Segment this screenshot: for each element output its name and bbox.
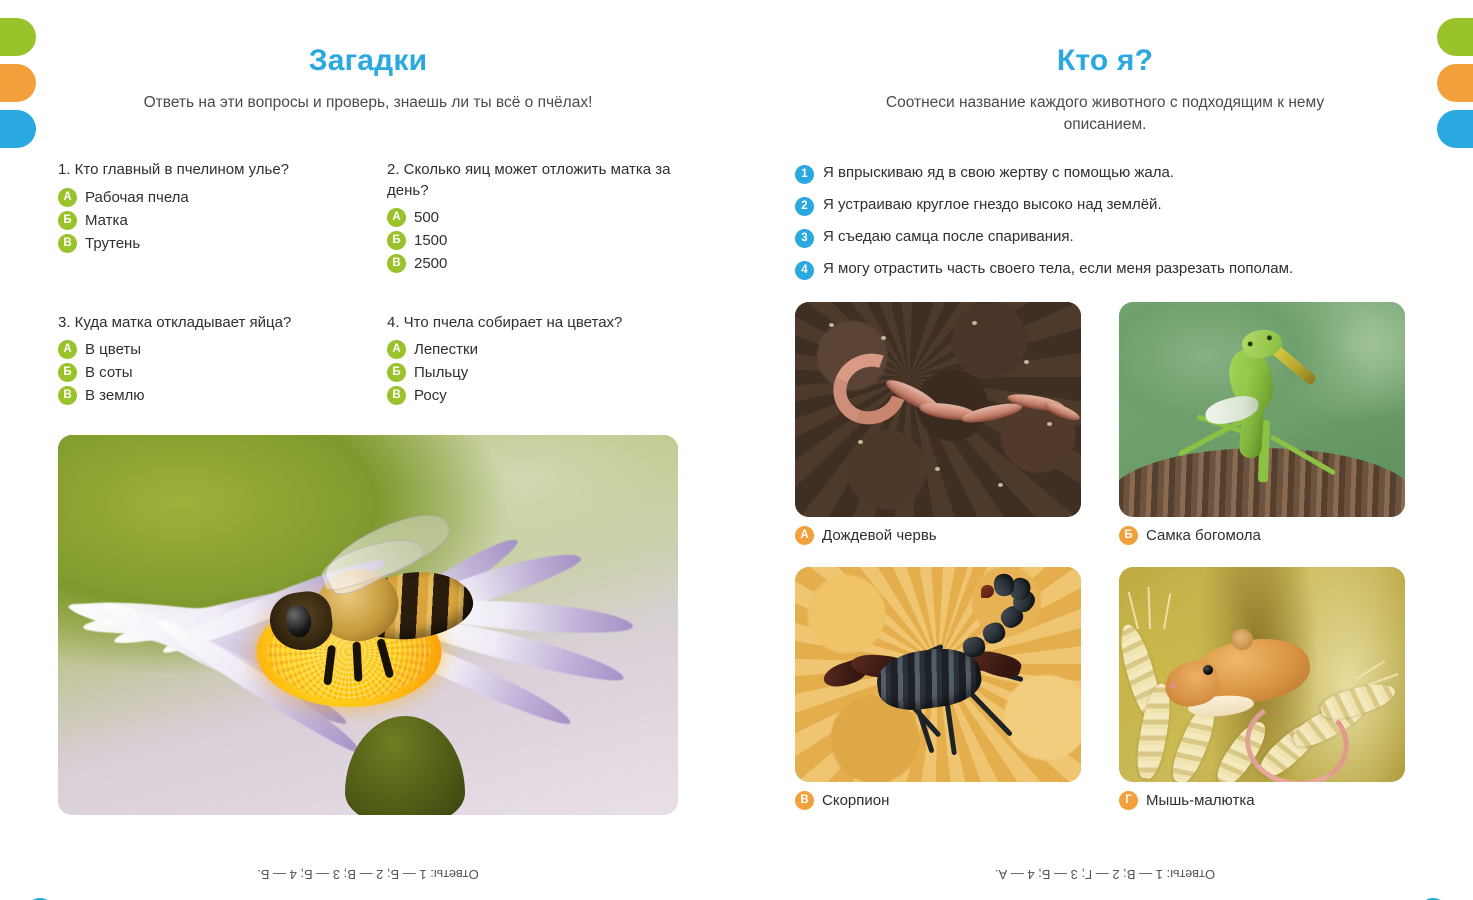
photo-caption: Г Мышь-малютка — [1119, 791, 1415, 810]
caption-letter-badge: А — [795, 526, 814, 545]
book-spread: Загадки Ответь на эти вопросы и проверь,… — [0, 0, 1473, 900]
answers-key: Ответы: 1 — Б; 2 — В; 3 — Б; 4 — Б. — [0, 867, 736, 882]
option-letter-badge: А — [387, 340, 406, 359]
answer-option[interactable]: В В землю — [58, 386, 349, 405]
option-letter-badge: А — [387, 208, 406, 227]
answers-key: Ответы: 1 — В; 2 — Г; 3 — Б; 4 — А. — [737, 867, 1473, 882]
page-title: Загадки — [58, 44, 678, 78]
answer-option[interactable]: Б Пыльцу — [387, 363, 678, 382]
question-block: 2. Сколько яиц может отложить матка за д… — [387, 160, 678, 277]
answer-option[interactable]: А Рабочая пчела — [58, 188, 349, 207]
bee-photo-art — [58, 435, 678, 815]
animal-photo-cell: А Дождевой червь — [795, 302, 1091, 559]
animal-photo-cell: Б Самка богомола — [1119, 302, 1415, 559]
statement-item[interactable]: 1 Я впрыскиваю яд в свою жертву с помощь… — [795, 163, 1415, 184]
answer-option[interactable]: Б Матка — [58, 211, 349, 230]
statement-number-badge: 4 — [795, 261, 814, 280]
question-block: 1. Кто главный в пчелином улье? А Рабоча… — [58, 160, 349, 277]
caption-letter-badge: Б — [1119, 526, 1138, 545]
option-label: Рабочая пчела — [85, 189, 189, 206]
answer-option[interactable]: В Трутень — [58, 234, 349, 253]
statement-number-badge: 2 — [795, 197, 814, 216]
caption-label: Мышь-малютка — [1146, 792, 1255, 809]
option-letter-badge: А — [58, 188, 77, 207]
caption-label: Дождевой червь — [822, 527, 937, 544]
answer-option[interactable]: Б В соты — [58, 363, 349, 382]
statement-text: Я впрыскиваю яд в свою жертву с помощью … — [823, 163, 1174, 183]
earthworm-photo — [795, 302, 1081, 517]
earthworm-photo-art — [795, 302, 1081, 517]
photo-caption: А Дождевой червь — [795, 526, 1091, 545]
question-block: 3. Куда матка откладывает яйца? А В цвет… — [58, 313, 349, 409]
statement-text: Я съедаю самца после спаривания. — [823, 227, 1074, 247]
animal-photo-cell: В Скорпион — [795, 567, 1091, 824]
statement-item[interactable]: 3 Я съедаю самца после спаривания. — [795, 227, 1415, 248]
option-letter-badge: А — [58, 340, 77, 359]
question-text: 2. Сколько яиц может отложить матка за д… — [387, 160, 678, 201]
statement-list: 1 Я впрыскиваю яд в свою жертву с помощь… — [795, 163, 1415, 280]
answer-option[interactable]: В Росу — [387, 386, 678, 405]
option-label: В землю — [85, 387, 145, 404]
option-letter-badge: Б — [387, 363, 406, 382]
question-block: 4. Что пчела собирает на цветах? А Лепес… — [387, 313, 678, 409]
answer-option[interactable]: А 500 — [387, 208, 678, 227]
scorpion-photo — [795, 567, 1081, 782]
harvest-mouse-photo — [1119, 567, 1405, 782]
option-label: Матка — [85, 212, 128, 229]
scorpion-photo-art — [795, 567, 1081, 782]
harvest-mouse-photo-art — [1119, 567, 1405, 782]
option-letter-badge: В — [387, 386, 406, 405]
option-label: В соты — [85, 364, 133, 381]
caption-label: Самка богомола — [1146, 527, 1261, 544]
statement-item[interactable]: 2 Я устраиваю круглое гнездо высоко над … — [795, 195, 1415, 216]
mantis-photo — [1119, 302, 1405, 517]
option-label: 2500 — [414, 255, 447, 272]
caption-letter-badge: В — [795, 791, 814, 810]
caption-letter-badge: Г — [1119, 791, 1138, 810]
mantis-photo-art — [1119, 302, 1405, 517]
caption-label: Скорпион — [822, 792, 889, 809]
answer-option[interactable]: В 2500 — [387, 254, 678, 273]
answer-option[interactable]: А Лепестки — [387, 340, 678, 359]
question-text: 3. Куда матка откладывает яйца? — [58, 313, 349, 333]
option-letter-badge: В — [58, 386, 77, 405]
statement-item[interactable]: 4 Я могу отрастить часть своего тела, ес… — [795, 259, 1415, 280]
photo-caption: Б Самка богомола — [1119, 526, 1415, 545]
question-text: 1. Кто главный в пчелином улье? — [58, 160, 349, 180]
animal-photo-grid: А Дождевой червь — [795, 302, 1415, 824]
answer-option[interactable]: Б 1500 — [387, 231, 678, 250]
option-label: 500 — [414, 209, 439, 226]
bee-on-flower-photo — [58, 435, 678, 815]
option-label: В цветы — [85, 341, 141, 358]
statement-number-badge: 3 — [795, 229, 814, 248]
option-label: 1500 — [414, 232, 447, 249]
right-page: Кто я? Соотнеси название каждого животно… — [737, 0, 1473, 900]
option-label: Трутень — [85, 235, 140, 252]
option-letter-badge: Б — [58, 363, 77, 382]
photo-caption: В Скорпион — [795, 791, 1091, 810]
option-label: Пыльцу — [414, 364, 468, 381]
option-label: Росу — [414, 387, 447, 404]
statement-text: Я устраиваю круглое гнездо высоко над зе… — [823, 195, 1162, 215]
option-letter-badge: Б — [387, 231, 406, 250]
page-title: Кто я? — [795, 44, 1415, 78]
page-subtitle: Ответь на эти вопросы и проверь, знаешь … — [58, 92, 678, 114]
quiz-questions: 1. Кто главный в пчелином улье? А Рабоча… — [58, 160, 678, 409]
page-subtitle: Соотнеси название каждого животного с по… — [845, 92, 1365, 137]
statement-number-badge: 1 — [795, 165, 814, 184]
question-text: 4. Что пчела собирает на цветах? — [387, 313, 678, 333]
option-letter-badge: Б — [58, 211, 77, 230]
option-label: Лепестки — [414, 341, 478, 358]
left-page: Загадки Ответь на эти вопросы и проверь,… — [0, 0, 736, 900]
statement-text: Я могу отрастить часть своего тела, если… — [823, 259, 1293, 279]
answer-option[interactable]: А В цветы — [58, 340, 349, 359]
option-letter-badge: В — [58, 234, 77, 253]
animal-photo-cell: Г Мышь-малютка — [1119, 567, 1415, 824]
option-letter-badge: В — [387, 254, 406, 273]
